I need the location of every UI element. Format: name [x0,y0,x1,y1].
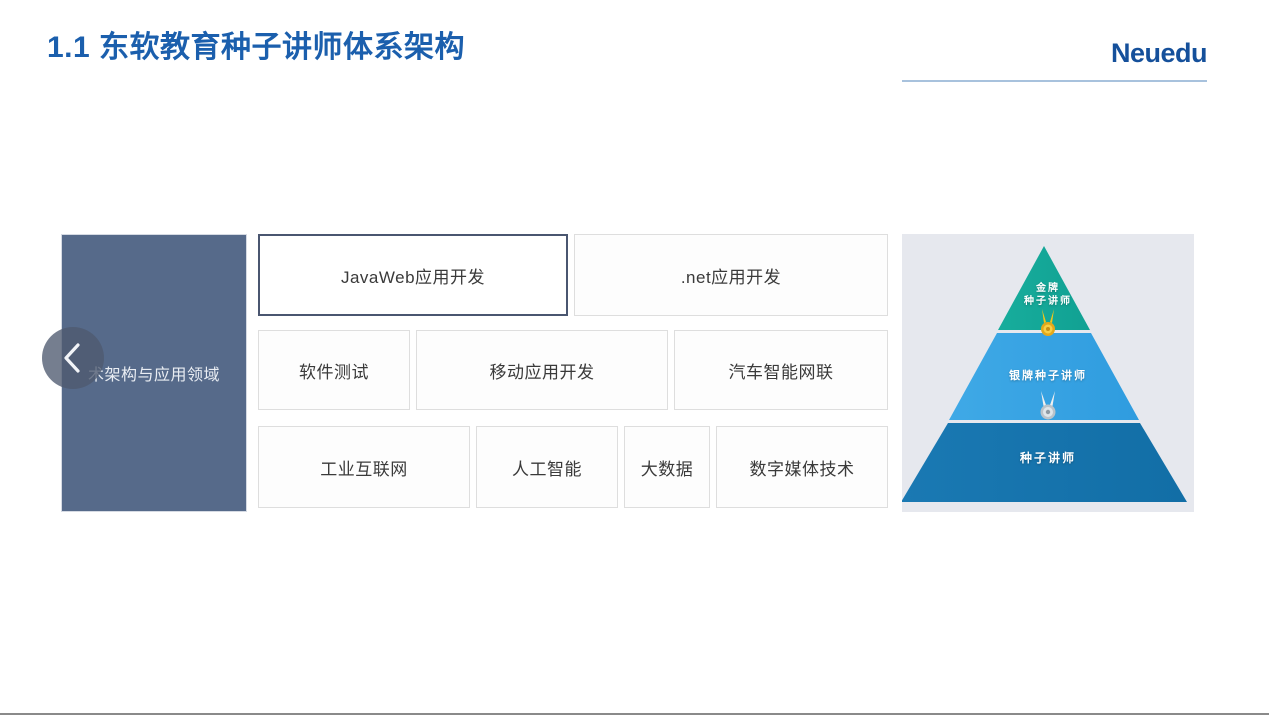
topic-card-label: 数字媒体技术 [750,455,855,480]
pyramid-tier-gold [998,246,1090,330]
pyramid-panel: 金牌 种子讲师 银牌种子讲师 种子讲师 [902,234,1194,512]
page-title: 1.1 东软教育种子讲师体系架构 [47,22,465,66]
brand-underline-divider [902,80,1207,82]
topic-card-label: 工业互联网 [320,455,408,480]
topic-card-label: 汽车智能网联 [729,358,834,383]
topic-card-label: JavaWeb应用开发 [341,263,485,288]
topic-card-artificial-intelligence[interactable]: 人工智能 [476,426,618,508]
prev-nav-button[interactable] [42,327,104,389]
topic-card-industrial-internet[interactable]: 工业互联网 [258,426,470,508]
pyramid-tier-silver [949,333,1139,420]
topic-card-javaweb[interactable]: JavaWeb应用开发 [258,234,568,316]
pyramid-diagram [902,234,1194,512]
brand-logo: Neuedu [1111,38,1207,69]
topic-card-automotive-iot[interactable]: 汽车智能网联 [674,330,888,410]
card-row: 软件测试 移动应用开发 汽车智能网联 [258,330,888,410]
topic-card-digital-media[interactable]: 数字媒体技术 [716,426,888,508]
topic-card-label: .net应用开发 [681,263,781,288]
topic-card-label: 大数据 [641,455,694,480]
topic-card-big-data[interactable]: 大数据 [624,426,710,508]
topic-card-label: 移动应用开发 [490,358,595,383]
topic-card-dotnet[interactable]: .net应用开发 [574,234,888,316]
card-row: 工业互联网 人工智能 大数据 数字媒体技术 [258,426,888,508]
topic-card-mobile-app-dev[interactable]: 移动应用开发 [416,330,668,410]
topic-card-label: 软件测试 [299,358,369,383]
pyramid-tier-base [902,423,1187,502]
topic-card-software-testing[interactable]: 软件测试 [258,330,410,410]
card-row: JavaWeb应用开发 .net应用开发 [258,234,888,316]
topic-card-grid: JavaWeb应用开发 .net应用开发 软件测试 移动应用开发 汽车智能网联 … [258,234,888,518]
slide-canvas: 1.1 东软教育种子讲师体系架构 Neuedu 术架构与应用领域 JavaWeb… [0,0,1269,715]
topic-card-label: 人工智能 [512,455,582,480]
